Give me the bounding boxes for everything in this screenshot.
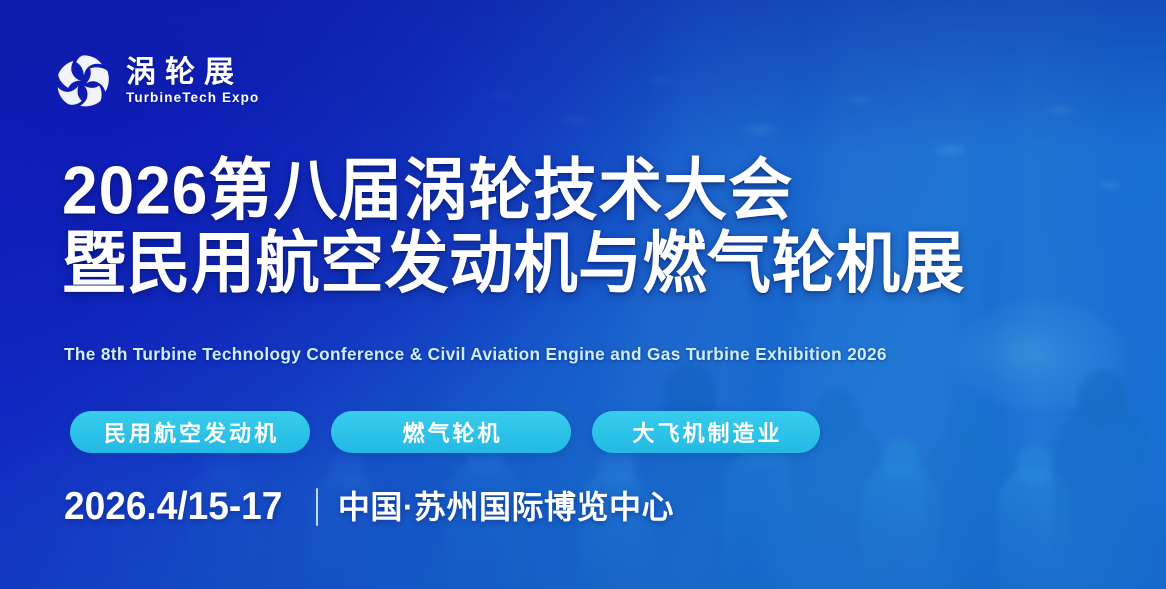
topic-tag-aero-engine[interactable]: 民用航空发动机	[70, 411, 310, 453]
turbine-swirl-icon	[56, 52, 112, 108]
brand-name-cn: 涡轮展	[126, 58, 259, 88]
event-title: 2026第八届涡轮技术大会 暨民用航空发动机与燃气轮机展	[62, 152, 965, 298]
event-date: 2026.4/15-17	[64, 487, 282, 526]
topic-tag-large-aircraft[interactable]: 大飞机制造业	[592, 411, 820, 453]
banner-content: 涡轮展 TurbineTech Expo 2026第八届涡轮技术大会 暨民用航空…	[0, 0, 1166, 589]
event-title-line-1: 2026第八届涡轮技术大会	[62, 152, 965, 229]
brand-name-en: TurbineTech Expo	[126, 91, 259, 105]
event-subtitle-en: The 8th Turbine Technology Conference & …	[64, 344, 887, 365]
event-title-line-2: 暨民用航空发动机与燃气轮机展	[62, 225, 965, 302]
event-venue: 中国·苏州国际博览中心	[338, 491, 674, 523]
brand-logo: 涡轮展 TurbineTech Expo	[56, 52, 259, 108]
event-meta: 2026.4/15-17 中国·苏州国际博览中心	[64, 487, 674, 526]
event-banner: 涡轮展 TurbineTech Expo 2026第八届涡轮技术大会 暨民用航空…	[0, 0, 1166, 589]
meta-divider	[316, 488, 318, 526]
brand-logo-text: 涡轮展 TurbineTech Expo	[126, 56, 259, 105]
topic-tag-list: 民用航空发动机 燃气轮机 大飞机制造业	[70, 411, 820, 453]
topic-tag-gas-turbine[interactable]: 燃气轮机	[331, 411, 571, 453]
